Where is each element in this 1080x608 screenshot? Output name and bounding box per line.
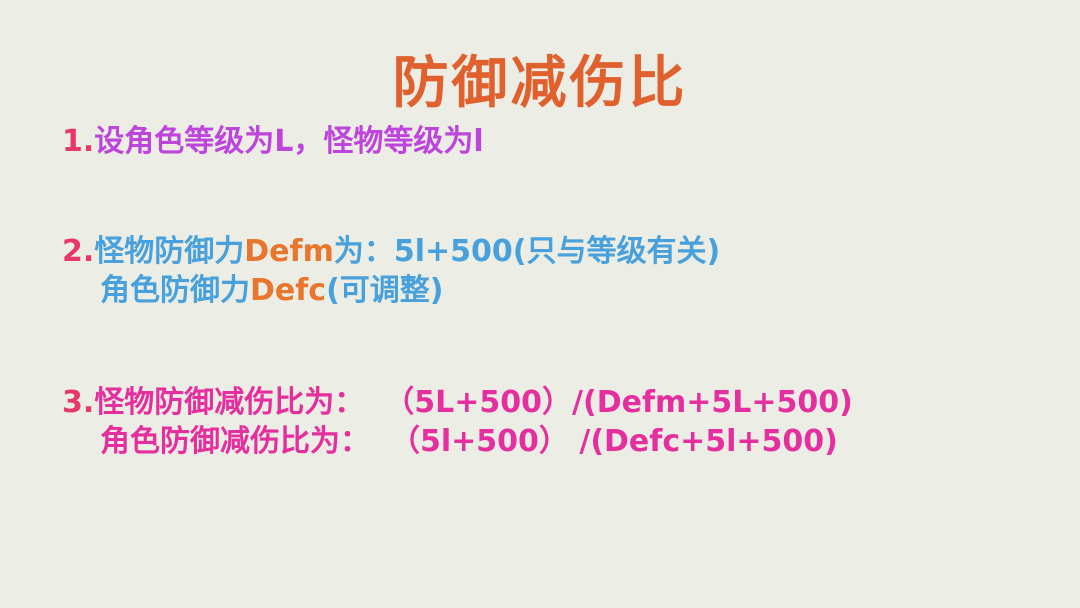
list-item-2-line-1: 2.怪物防御力Defm为：5l+500(只与等级有关) bbox=[62, 232, 1072, 272]
content-list: 1.设角色等级为L，怪物等级为l 2.怪物防御力Defm为：5l+500(只与等… bbox=[62, 122, 1072, 462]
monster-defense-symbol: Defm bbox=[244, 234, 334, 269]
list-item-2-number: 2. bbox=[62, 234, 94, 269]
monster-defense-formula: 为：5l+500(只与等级有关) bbox=[334, 234, 720, 269]
list-item-1-number: 1. bbox=[62, 124, 94, 159]
list-item-3-line-2: 角色防御减伤比为：（5l+500） /(Defc+5l+500) bbox=[62, 422, 1072, 462]
character-reduction-label: 角色防御减伤比为： bbox=[100, 424, 370, 459]
character-defense-symbol: Defc bbox=[250, 273, 326, 308]
character-reduction-formula: （5l+500） /(Defc+5l+500) bbox=[390, 424, 838, 459]
monster-reduction-label: 怪物防御减伤比为： bbox=[94, 385, 364, 420]
list-item-1-line-1: 1.设角色等级为L，怪物等级为l bbox=[62, 122, 1072, 162]
list-item-1: 1.设角色等级为L，怪物等级为l bbox=[62, 122, 1072, 162]
list-item-3-line-1: 3.怪物防御减伤比为：（5L+500）/(Defm+5L+500) bbox=[62, 383, 1072, 423]
monster-reduction-formula: （5L+500）/(Defm+5L+500) bbox=[384, 385, 853, 420]
page-title: 防御减伤比 bbox=[0, 52, 1080, 116]
list-item-3: 3.怪物防御减伤比为：（5L+500）/(Defm+5L+500) 角色防御减伤… bbox=[62, 383, 1072, 462]
slide-canvas: 防御减伤比 1.设角色等级为L，怪物等级为l 2.怪物防御力Defm为：5l+5… bbox=[0, 0, 1080, 608]
list-item-3-number: 3. bbox=[62, 385, 94, 420]
character-defense-note: (可调整) bbox=[326, 273, 443, 308]
list-item-2: 2.怪物防御力Defm为：5l+500(只与等级有关) 角色防御力Defc(可调… bbox=[62, 232, 1072, 311]
list-item-2-line-2: 角色防御力Defc(可调整) bbox=[62, 271, 1072, 311]
monster-defense-label: 怪物防御力 bbox=[94, 234, 244, 269]
character-defense-label: 角色防御力 bbox=[100, 273, 250, 308]
list-item-1-text: 设角色等级为L，怪物等级为l bbox=[94, 124, 483, 159]
